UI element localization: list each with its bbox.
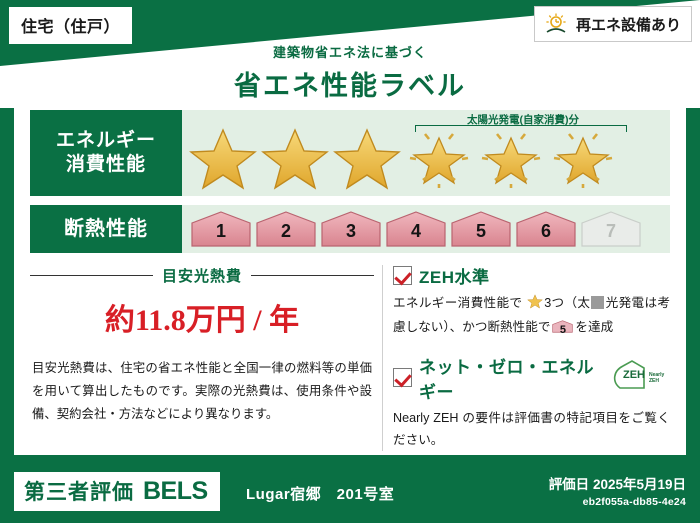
star-icon <box>332 124 402 190</box>
redaction-mask <box>591 296 604 309</box>
utility-cost-note: 目安光熱費は、住宅の省エネ性能と全国一律の燃料等の単価を用いて算出したものです。… <box>30 357 374 426</box>
lower-section: 目安光熱費 約11.8万円 / 年 目安光熱費は、住宅の省エネ性能と全国一律の燃… <box>30 261 670 457</box>
svg-text:ZEH: ZEH <box>623 369 645 381</box>
insulation-grade-chips: 1 2 3 4 5 <box>182 210 642 248</box>
insulation-performance-label: 断熱性能 <box>30 205 182 253</box>
star-icon <box>260 124 330 190</box>
zeh-logo-icon: ZEH Nearly ZEH <box>610 360 670 395</box>
star-rating <box>182 124 618 190</box>
label-title: 建築物省エネ法に基づく 省エネ性能ラベル <box>0 42 700 103</box>
star-icon-solar <box>548 124 618 190</box>
rule-right <box>251 275 374 276</box>
net-zero-energy-title: ネット・ゼロ・エネルギー <box>419 353 599 403</box>
sun-icon <box>543 11 569 37</box>
insulation-performance-row: 断熱性能 1 2 3 4 <box>30 205 670 253</box>
housing-type-tab: 住宅（住戸） <box>8 6 133 45</box>
footer-bar: 第三者評価 BELS Lugar宿郷 201号室 評価日 2025年5月19日 … <box>0 463 700 523</box>
insulation-chip: 5 <box>450 210 512 248</box>
insulation-chip: 6 <box>515 210 577 248</box>
net-zero-energy-header: ネット・ゼロ・エネルギー ZEH Nearly ZEH <box>393 353 670 403</box>
utility-cost-heading: 目安光熱費 <box>30 265 374 286</box>
star-icon-solar <box>404 124 474 190</box>
evaluation-info: 評価日 2025年5月19日 eb2f055a-db85-4e24 <box>549 473 686 508</box>
label-card: エネルギー 消費性能 太陽光発電(自家消費)分 <box>14 100 686 455</box>
utility-cost-value: 約11.8万円 / 年 <box>30 295 374 339</box>
insulation-chip: 3 <box>320 210 382 248</box>
utility-cost-section: 目安光熱費 約11.8万円 / 年 目安光熱費は、住宅の省エネ性能と全国一律の燃… <box>30 261 374 457</box>
svg-text:ZEH: ZEH <box>649 378 659 384</box>
solar-bracket <box>415 125 627 132</box>
renewable-equipment-badge: 再エネ設備あり <box>534 6 692 42</box>
inline-insulation-chip: 5 <box>552 318 573 335</box>
bels-badge: 第三者評価 BELS <box>14 472 220 511</box>
bels-jp-label: 第三者評価 <box>24 476 134 506</box>
star-icon-solar <box>476 124 546 190</box>
renewable-badge-label: 再エネ設備あり <box>576 14 681 35</box>
vertical-divider <box>382 265 383 451</box>
zeh-standard-title: ZEH水準 <box>419 263 490 288</box>
rule-left <box>30 275 153 276</box>
insulation-chip: 4 <box>385 210 447 248</box>
net-zero-energy-body: Nearly ZEH の要件は評価書の特記項目をご覧ください。 <box>393 407 670 452</box>
zeh-standard-block: ZEH水準 エネルギー消費性能で 3つ（太光発電は考慮しない）、かつ断熱性能で … <box>393 263 670 339</box>
energy-performance-label: エネルギー 消費性能 <box>30 110 182 196</box>
checkbox-checked-icon[interactable] <box>393 368 412 387</box>
insulation-chip: 2 <box>255 210 317 248</box>
insulation-chip: 1 <box>190 210 252 248</box>
zeh-standard-header: ZEH水準 <box>393 263 670 288</box>
evaluation-date: 評価日 2025年5月19日 <box>549 473 686 493</box>
property-name: Lugar宿郷 201号室 <box>246 483 394 504</box>
zeh-body-part3: を達成 <box>575 320 613 334</box>
star-icon <box>188 124 258 190</box>
bels-en-label: BELS <box>143 477 208 506</box>
checkbox-checked-icon[interactable] <box>393 266 412 285</box>
zeh-body-starcount: 3つ（太 <box>544 296 590 310</box>
insulation-chip-inactive: 7 <box>580 210 642 248</box>
zeh-standard-body: エネルギー消費性能で 3つ（太光発電は考慮しない）、かつ断熱性能で 5 を達成 <box>393 292 670 339</box>
evaluation-id: eb2f055a-db85-4e24 <box>549 496 686 508</box>
standards-section: ZEH水準 エネルギー消費性能で 3つ（太光発電は考慮しない）、かつ断熱性能で … <box>393 261 670 457</box>
zeh-body-part1: エネルギー消費性能で <box>393 296 522 310</box>
insulation-performance-value: 1 2 3 4 5 <box>182 205 670 253</box>
energy-performance-value: 太陽光発電(自家消費)分 <box>182 110 670 196</box>
net-zero-energy-block: ネット・ゼロ・エネルギー ZEH Nearly ZEH Nearly ZEH の… <box>393 353 670 452</box>
inline-star-icon <box>527 293 543 316</box>
energy-performance-row: エネルギー 消費性能 太陽光発電(自家消費)分 <box>30 110 670 196</box>
title-main: 省エネ性能ラベル <box>0 64 700 103</box>
